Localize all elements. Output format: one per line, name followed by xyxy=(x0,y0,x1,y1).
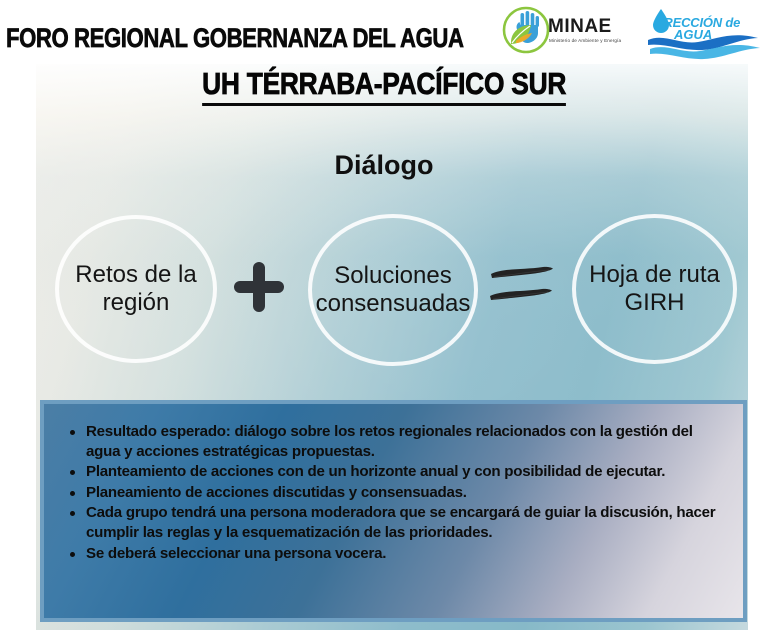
list-item: Planteamiento de acciones con de un hori… xyxy=(66,462,729,482)
minae-hand-leaf-icon xyxy=(502,6,550,54)
concept-circle-hoja-ruta: Hoja de ruta GIRH xyxy=(572,214,737,364)
list-item: Planeamiento de acciones discutidas y co… xyxy=(66,483,729,503)
minae-tagline: Ministerio de Ambiente y Energía xyxy=(549,38,621,43)
concept-circle-retos: Retos de la región xyxy=(55,215,217,363)
direccion-agua-line2: AGUA xyxy=(674,27,712,42)
page-title: FORO REGIONAL GOBERNANZA DEL AGUA xyxy=(6,23,464,54)
plus-operator-icon xyxy=(232,260,286,312)
notes-box: Resultado esperado: diálogo sobre los re… xyxy=(40,400,747,622)
list-item: Cada grupo tendrá una persona moderadora… xyxy=(66,503,729,542)
minae-logo: MINAE Ministerio de Ambiente y Energía xyxy=(502,4,630,56)
minae-wordmark: MINAE xyxy=(548,16,612,38)
concept-circle-label: Retos de la región xyxy=(59,261,213,318)
slide-canvas: FORO REGIONAL GOBERNANZA DEL AGUA UH TÉR… xyxy=(0,0,768,644)
concept-circle-soluciones: Soluciones consensuadas xyxy=(308,214,478,366)
diagram-heading: Diálogo xyxy=(0,150,768,181)
equals-operator-icon xyxy=(489,262,561,310)
notes-list: Resultado esperado: diálogo sobre los re… xyxy=(66,422,729,563)
list-item: Resultado esperado: diálogo sobre los re… xyxy=(66,422,729,461)
concept-circle-label: Hoja de ruta GIRH xyxy=(576,261,733,318)
list-item: Se deberá seleccionar una persona vocera… xyxy=(66,544,729,564)
direccion-agua-logo: IRECCIÓN de AGUA xyxy=(646,5,764,60)
concept-circle-label: Soluciones consensuadas xyxy=(312,262,474,319)
